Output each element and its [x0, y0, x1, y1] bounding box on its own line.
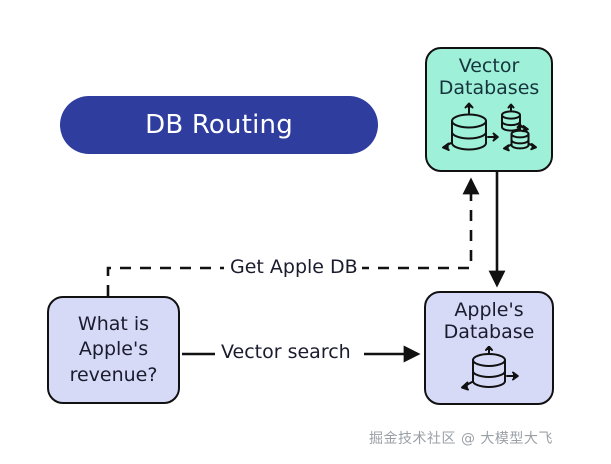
apples-database-label-line2: Database [444, 321, 535, 343]
database-cylinder-icon [453, 346, 525, 394]
node-vector-databases[interactable]: Vector Databases [425, 47, 553, 172]
node-apples-database[interactable]: Apple's Database [424, 291, 554, 405]
db-routing-label: DB Routing [145, 112, 293, 138]
question-label-line3: revenue? [70, 363, 158, 388]
edge-get-apple-db [108, 180, 471, 296]
db-routing-pill: DB Routing [60, 96, 378, 154]
edge-label-vector-search: Vector search [217, 343, 355, 362]
vector-databases-label-line1: Vector [459, 55, 520, 77]
vector-databases-label-line2: Databases [439, 77, 540, 99]
question-label-line1: What is [78, 312, 149, 337]
apples-database-label-line1: Apple's [454, 299, 523, 321]
multiple-database-cylinders-icon [439, 102, 539, 154]
node-question-box[interactable]: What is Apple's revenue? [47, 296, 180, 404]
question-label-line2: Apple's [79, 337, 148, 362]
edge-label-get-apple-db: Get Apple DB [226, 258, 362, 277]
watermark: 掘金技术社区 @ 大模型大飞 [369, 428, 553, 448]
